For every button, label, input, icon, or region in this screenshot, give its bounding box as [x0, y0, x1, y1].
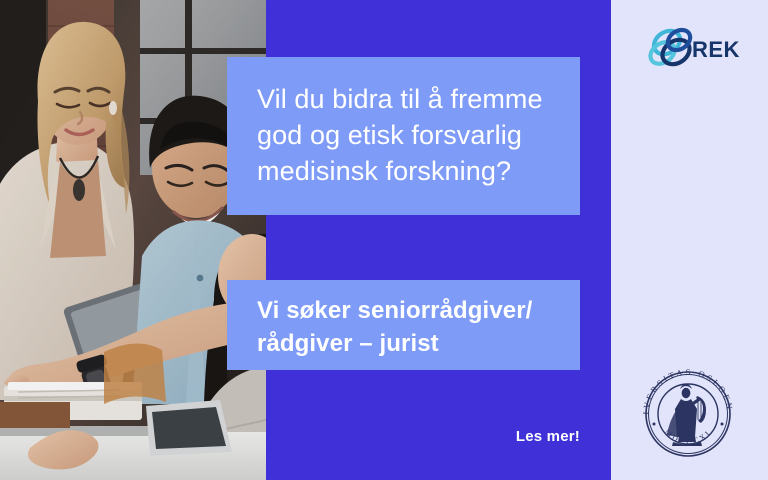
- headline-text: Vil du bidra til å fremme god og etisk f…: [257, 81, 552, 189]
- job-advert-banner: Vil du bidra til å fremme god og etisk f…: [0, 0, 768, 480]
- uio-seal: UNIVERSITAS OSLOENSIS MDCCCXI: [636, 362, 740, 466]
- rek-logo[interactable]: REK: [648, 25, 740, 73]
- job-title-text: Vi søker seniorrådgiver/ rådgiver – juri…: [257, 294, 556, 360]
- read-more-link[interactable]: Les mer!: [430, 428, 580, 445]
- rek-interlocking-loops-icon: REK: [648, 25, 740, 73]
- job-title-box: Vi søker seniorrådgiver/ rådgiver – juri…: [227, 280, 580, 370]
- rek-wordmark: REK: [692, 37, 740, 62]
- headline-box: Vil du bidra til å fremme god og etisk f…: [227, 57, 580, 215]
- uio-seal-icon: UNIVERSITAS OSLOENSIS MDCCCXI: [636, 362, 740, 466]
